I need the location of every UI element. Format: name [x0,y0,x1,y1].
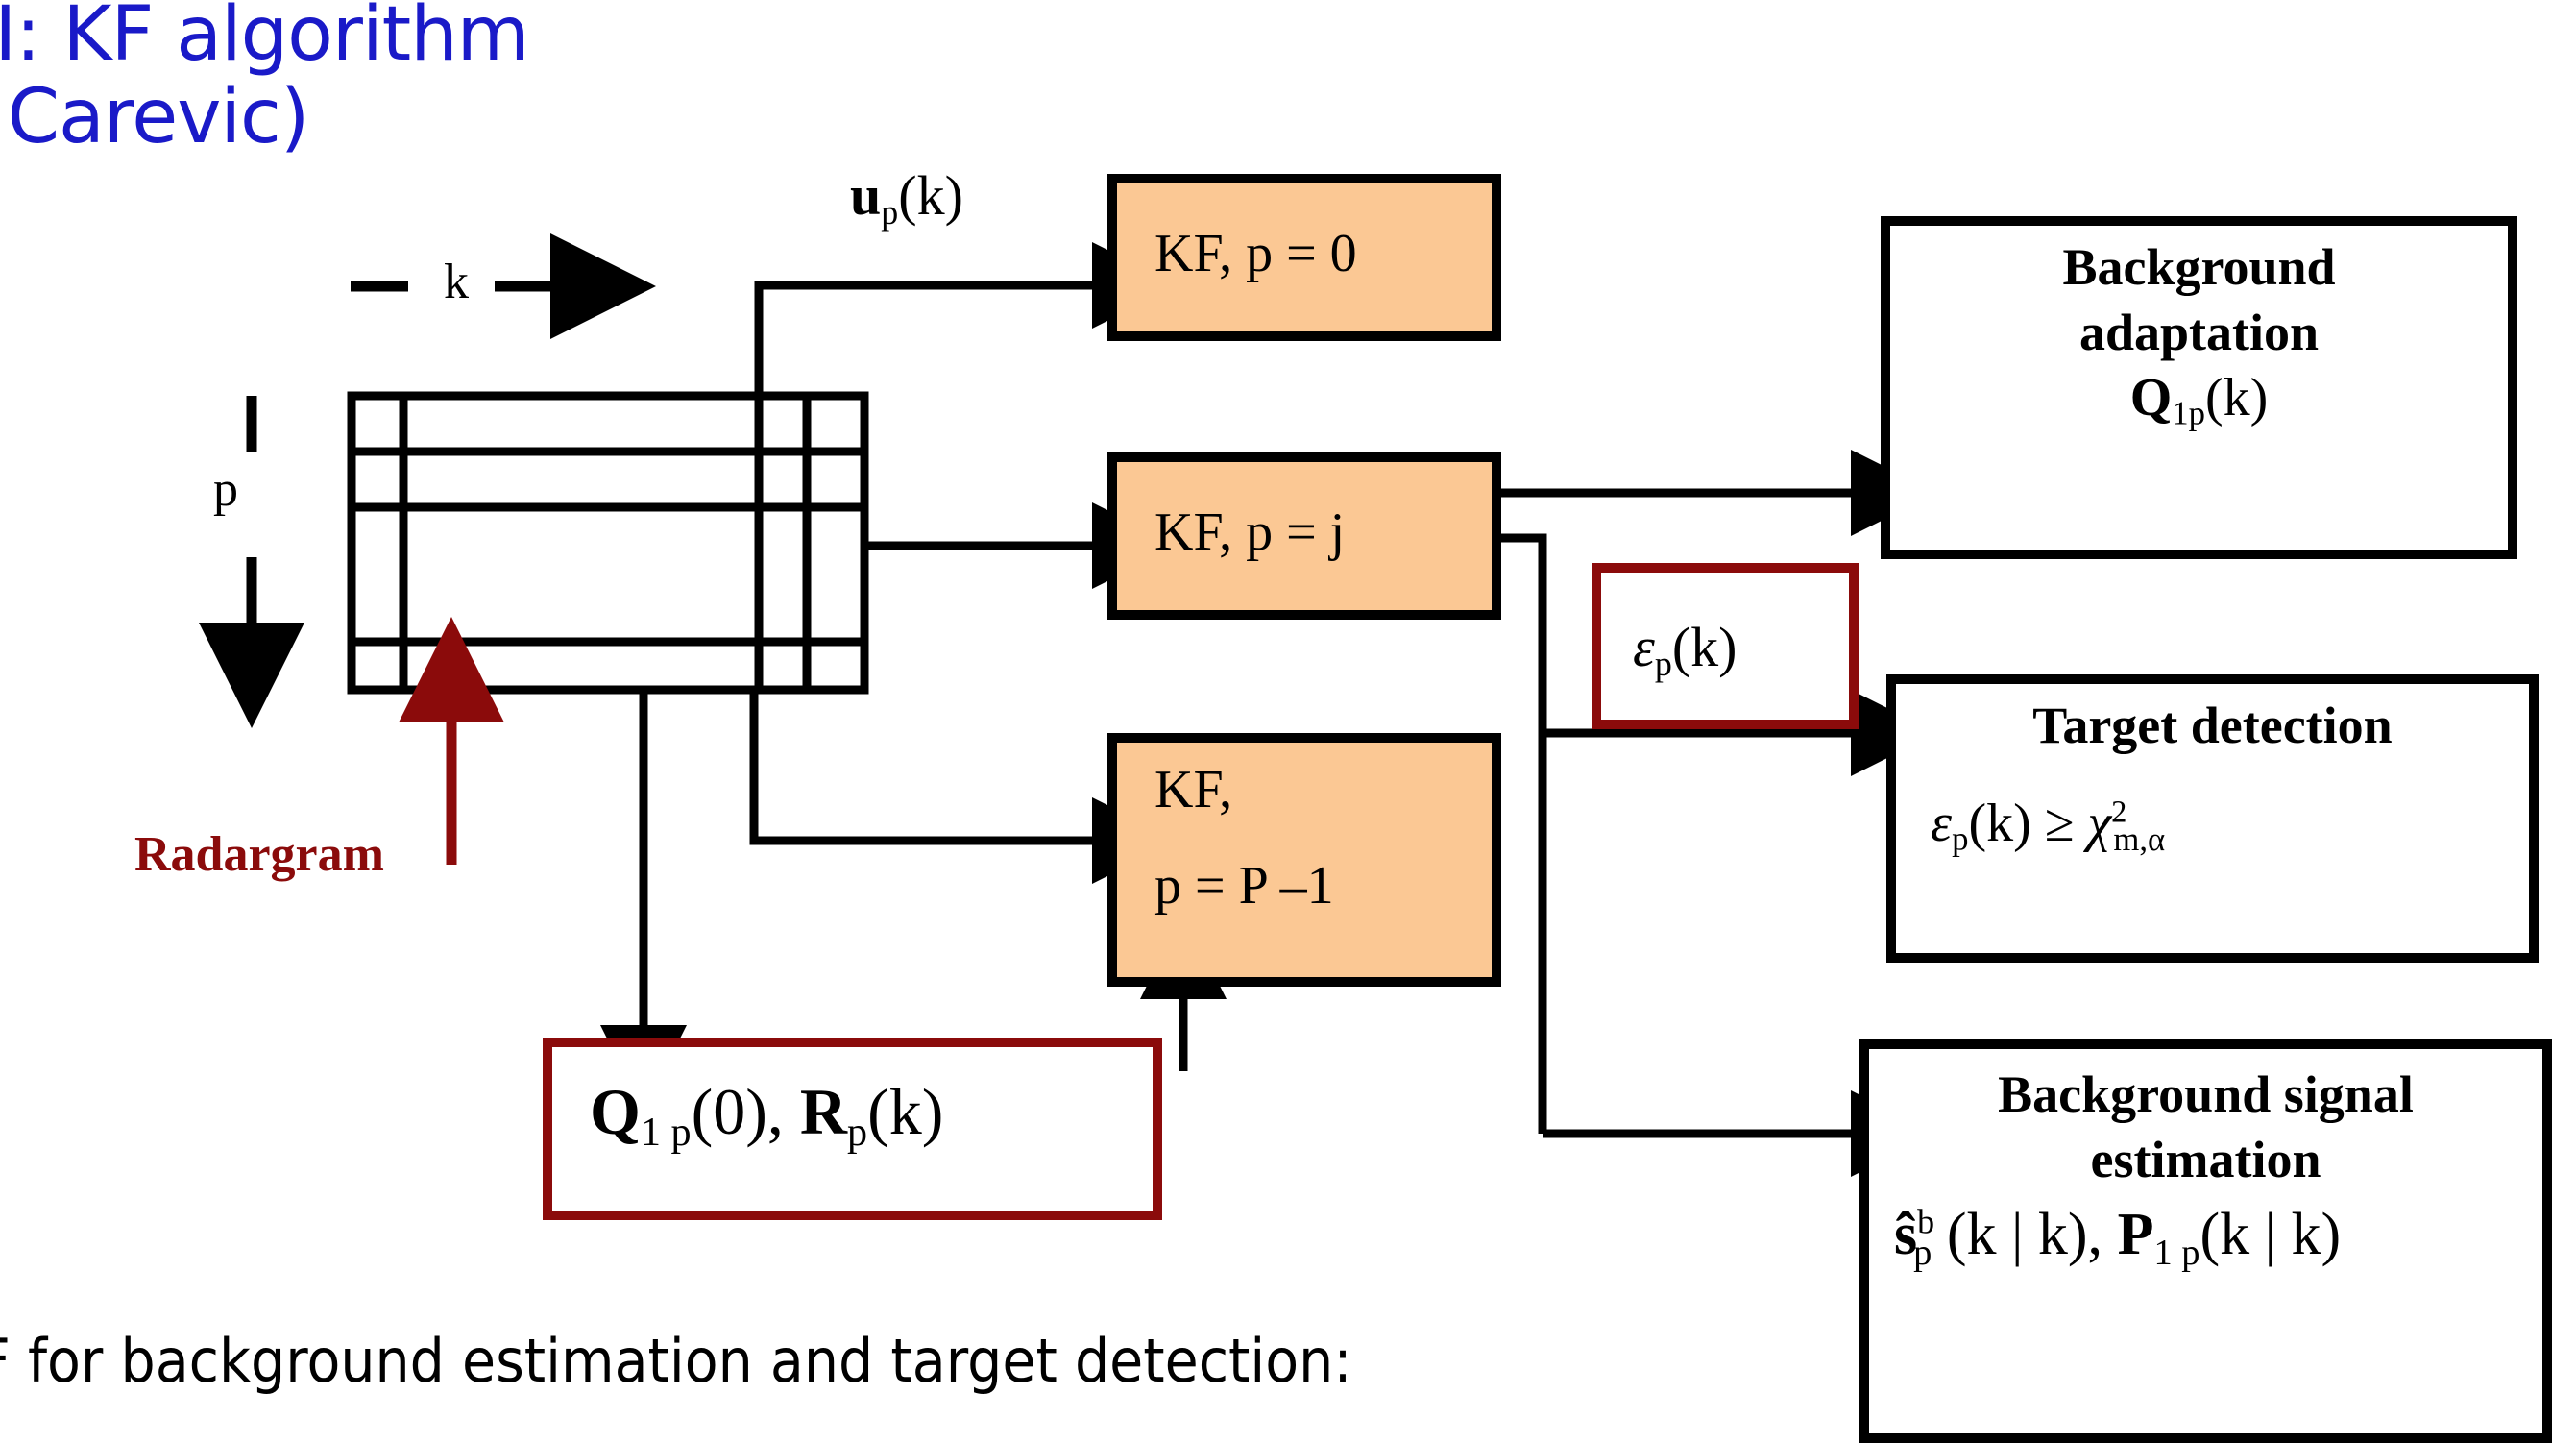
connector-grid-to-kf0 [759,285,1109,396]
bse-s-subscript: p [1913,1233,1932,1273]
bse-p-symbol: P [2118,1202,2154,1267]
axis-label-p: p [213,461,238,518]
kf-box-pP1-label-line1: KF, [1154,759,1232,820]
td-eps-symbol: ε [1931,794,1952,853]
radargram-grid [352,396,864,690]
slide-canvas: p I: KF algorithm . Carevic) F for backg… [0,0,2576,1443]
background-adaptation-title-line1: Background [1885,237,2513,297]
init-box-label: Q1 p(0), Rp(k) [590,1074,943,1156]
td-relation-symbol: ≥ [2045,794,2075,853]
slide-title-line2: . Carevic) [0,75,308,159]
kf-box-p0-label: KF, p = 0 [1154,223,1357,284]
input-signal-subscript: p [881,193,898,232]
radargram-label: Radargram [134,826,384,883]
init-q-argument: (0), [692,1075,784,1148]
connector-grid-to-kfP1 [754,690,1109,841]
input-signal-argument: (k) [898,164,963,227]
kf-box-pP1-label-line2: p = P –1 [1154,855,1334,917]
bse-p-subscript: 1 p [2153,1233,2199,1273]
innovation-argument: (k) [1672,616,1738,678]
slide-bottom-caption: F for background estimation and target d… [0,1326,1352,1396]
td-chi-subscript: m,α [2113,820,2165,858]
td-eps-subscript: p [1952,820,1968,858]
innovation-box-label: εp(k) [1633,615,1737,684]
input-signal-label: up(k) [850,163,963,232]
innovation-subscript: p [1655,645,1672,683]
kf-box-pj-label: KF, p = j [1154,501,1345,563]
background-adaptation-title-line2: adaptation [1885,303,2513,362]
td-chi-symbol: χ [2087,794,2111,853]
target-detection-title: Target detection [1891,696,2534,755]
init-r-symbol: R [800,1075,847,1148]
background-signal-estimation-title-line1: Background signal [1864,1064,2547,1124]
init-r-argument: (k) [867,1075,943,1148]
background-signal-estimation-formula: ŝbp (k | k), P1 p(k | k) [1894,1201,2341,1274]
init-q-subscript: 1 p [641,1110,692,1155]
bg-adapt-q-symbol: Q [2130,368,2173,428]
innovation-symbol: ε [1633,616,1655,678]
td-eps-argument: (k) [1968,794,2030,853]
background-signal-estimation-title-line2: estimation [1864,1130,2547,1189]
bse-p-argument: (k | k) [2199,1202,2341,1267]
background-adaptation-formula: Q1p(k) [1885,367,2513,433]
bse-s-argument: (k | k), [1947,1202,2102,1267]
slide-title-line1: p I: KF algorithm [0,0,529,77]
input-signal-symbol: u [850,164,881,227]
axis-label-k: k [444,254,469,310]
init-q-symbol: Q [590,1075,641,1148]
bg-adapt-q-argument: (k) [2205,368,2268,428]
bg-adapt-q-subscript: 1p [2172,395,2205,432]
target-detection-formula: εp(k) ≥ χ2m,α [1931,793,2165,859]
init-r-subscript: p [847,1110,867,1155]
